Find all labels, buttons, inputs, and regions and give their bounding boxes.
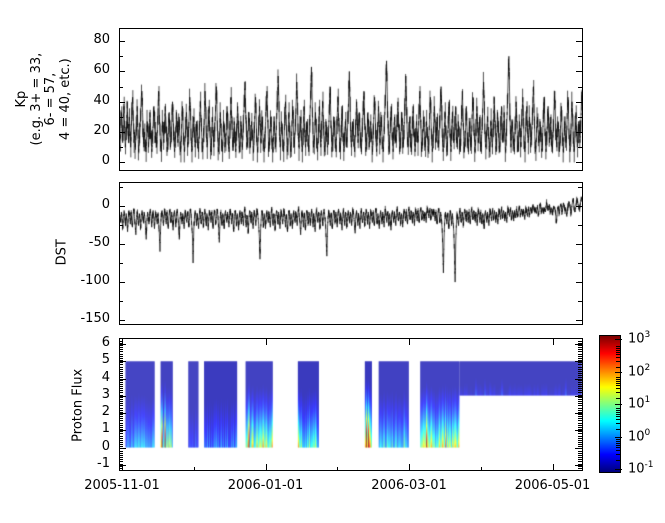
flux-minor-tick-right: [578, 414, 582, 415]
flux-minor-tick: [119, 403, 123, 404]
colorbar-tick-1: 101: [628, 395, 650, 411]
flux-minor-tick: [119, 425, 123, 426]
xtick-minor-mark: [553, 467, 554, 471]
dst-ytick-mark-right--150: [576, 320, 582, 321]
flux-minor-tick-right: [578, 468, 582, 469]
dst-minor-tick-right--75: [578, 263, 582, 264]
colorbar-minor-tick: [616, 388, 620, 389]
flux-minor-tick: [119, 436, 123, 437]
flux-minor-tick-right: [578, 418, 582, 419]
flux-minor-tick-right: [578, 356, 582, 357]
dst-ytick-mark--50: [119, 244, 125, 245]
flux-minor-tick-right: [578, 341, 582, 342]
kp-ytick-mark-60: [119, 71, 125, 72]
kp-panel: [119, 28, 583, 171]
colorbar-tick-exponent: 0: [645, 428, 651, 438]
colorbar-minor-tick: [616, 408, 620, 409]
kp-ytick-80: 80: [72, 32, 110, 47]
dst-ytick-mark--150: [119, 320, 125, 321]
flux-minor-tick: [119, 382, 123, 383]
kp-ytick-mark-right-60: [576, 71, 582, 72]
flux-minor-tick: [119, 433, 123, 434]
colorbar-tick-2: 102: [628, 363, 650, 379]
flux-minor-tick-right: [578, 470, 582, 471]
flux-minor-tick: [119, 367, 123, 368]
flux-minor-tick: [119, 384, 123, 385]
flux-minor-tick: [119, 429, 123, 430]
flux-minor-tick: [119, 423, 123, 424]
colorbar-minor-tick: [616, 385, 620, 386]
kp-axis-label-line-4: 4 = 40, etc.): [59, 19, 74, 179]
flux-minor-tick-right: [578, 440, 582, 441]
flux-minor-tick: [119, 360, 123, 361]
flux-minor-tick: [119, 380, 123, 381]
xtick-2006-01-01: 2006-01-01: [211, 478, 321, 493]
kp-ytick-mark-40: [119, 102, 125, 103]
flux-minor-tick: [119, 377, 123, 378]
flux-minor-tick-right: [578, 399, 582, 400]
flux-minor-tick: [119, 408, 123, 409]
colorbar-minor-tick: [616, 398, 620, 399]
dst-ytick--100: -100: [58, 273, 110, 288]
dst-ytick--50: -50: [58, 235, 110, 250]
kp-ytick-mark-80: [119, 41, 125, 42]
colorbar-tick-exponent: -1: [645, 460, 654, 470]
flux-minor-tick: [119, 397, 123, 398]
colorbar-minor-tick: [616, 352, 620, 353]
kp-minor-tick-50: [119, 87, 123, 88]
kp-axis-label: Kp (e.g. 3+ = 33, 6- = 57, 4 = 40, etc.): [15, 19, 73, 179]
flux-minor-tick-right: [578, 358, 582, 359]
flux-minor-tick-right: [578, 360, 582, 361]
flux-minor-tick-right: [578, 455, 582, 456]
colorbar-tick--1: 10-1: [628, 460, 654, 476]
kp-ytick-mark-20: [119, 132, 125, 133]
kp-minor-tick-30: [119, 117, 123, 118]
flux-minor-tick-right: [578, 403, 582, 404]
flux-minor-tick-right: [578, 457, 582, 458]
flux-minor-tick-right: [578, 423, 582, 424]
dst-minor-tick-right-25: [578, 187, 582, 188]
figure-root: Kp (e.g. 3+ = 33, 6- = 57, 4 = 40, etc.)…: [0, 0, 665, 523]
flux-minor-tick-right: [578, 343, 582, 344]
flux-minor-tick-right: [578, 425, 582, 426]
flux-minor-tick-right: [578, 351, 582, 352]
flux-minor-tick-right: [578, 384, 582, 385]
flux-minor-tick: [119, 373, 123, 374]
proton-flux-spectrogram: [120, 339, 582, 470]
flux-minor-tick-right: [578, 388, 582, 389]
colorbar-minor-tick: [616, 367, 620, 368]
flux-minor-tick: [119, 427, 123, 428]
flux-minor-tick-right: [578, 429, 582, 430]
flux-minor-tick: [119, 354, 123, 355]
flux-minor-tick-right: [578, 345, 582, 346]
colorbar-minor-tick: [616, 392, 620, 393]
kp-minor-tick-70: [119, 56, 123, 57]
flux-minor-tick-right: [578, 364, 582, 365]
kp-ytick-0: 0: [72, 153, 110, 168]
flux-minor-tick-right: [578, 448, 582, 449]
flux-ytick-2: 2: [72, 404, 110, 419]
flux-ytick-0: 0: [72, 439, 110, 454]
dst-minor-tick--25: [119, 225, 123, 226]
flux-minor-tick: [119, 399, 123, 400]
colorbar-tick-mark-2: [615, 372, 622, 373]
flux-minor-tick-right: [578, 397, 582, 398]
dst-ytick-mark--100: [119, 282, 125, 283]
flux-minor-tick-right: [578, 438, 582, 439]
kp-minor-tick-right-10: [578, 147, 582, 148]
flux-minor-tick-right: [578, 431, 582, 432]
flux-ytick-6: 6: [72, 335, 110, 350]
flux-minor-tick-right: [578, 401, 582, 402]
flux-minor-tick: [119, 448, 123, 449]
flux-minor-tick: [119, 390, 123, 391]
flux-minor-tick: [119, 405, 123, 406]
flux-minor-tick: [119, 345, 123, 346]
colorbar-minor-tick: [616, 350, 620, 351]
colorbar-minor-tick: [616, 419, 620, 420]
flux-minor-tick-right: [578, 405, 582, 406]
kp-ytick-mark-right-80: [576, 41, 582, 42]
dst-ytick-mark-right--100: [576, 282, 582, 283]
flux-minor-tick: [119, 410, 123, 411]
colorbar-tick-mantissa: 10: [628, 397, 645, 412]
kp-minor-tick-right-70: [578, 56, 582, 57]
kp-ytick-60: 60: [72, 62, 110, 77]
colorbar-tick-mark-3: [615, 339, 622, 340]
colorbar-minor-tick: [616, 454, 620, 455]
flux-ytick-1: 1: [72, 421, 110, 436]
flux-minor-tick: [119, 364, 123, 365]
colorbar-minor-tick: [616, 429, 620, 430]
colorbar-tick-mark-1: [615, 404, 622, 405]
colorbar-tick-exponent: 3: [645, 330, 651, 340]
flux-minor-tick-right: [578, 369, 582, 370]
flux-minor-tick-right: [578, 416, 582, 417]
flux-minor-tick-right: [578, 382, 582, 383]
flux-minor-tick: [119, 358, 123, 359]
flux-minor-tick: [119, 457, 123, 458]
dst-minor-tick-25: [119, 187, 123, 188]
flux-minor-tick-right: [578, 442, 582, 443]
flux-minor-tick-right: [578, 373, 582, 374]
flux-minor-tick-right: [578, 461, 582, 462]
flux-minor-tick-right: [578, 410, 582, 411]
kp-axis-label-line-2: (e.g. 3+ = 33,: [29, 19, 44, 179]
flux-minor-tick-right: [578, 375, 582, 376]
flux-minor-tick: [119, 349, 123, 350]
flux-minor-tick-right: [578, 386, 582, 387]
flux-minor-tick: [119, 416, 123, 417]
flux-minor-tick: [119, 418, 123, 419]
xtick-mark-top-2006-03-01: [409, 338, 410, 345]
flux-minor-tick-right: [578, 446, 582, 447]
colorbar-minor-tick: [616, 346, 620, 347]
colorbar-tick-mark--1: [615, 469, 622, 470]
flux-minor-tick: [119, 362, 123, 363]
xtick-2006-03-01: 2006-03-01: [354, 478, 464, 493]
colorbar-minor-tick: [616, 361, 620, 362]
kp-ytick-mark-right-0: [576, 162, 582, 163]
flux-minor-tick-right: [578, 466, 582, 467]
flux-minor-tick: [119, 444, 123, 445]
colorbar-tick-mantissa: 10: [628, 429, 645, 444]
flux-minor-tick: [119, 392, 123, 393]
xtick-2005-11-01: 2005-11-01: [67, 478, 177, 493]
flux-minor-tick-right: [578, 451, 582, 452]
colorbar-minor-tick: [616, 416, 620, 417]
flux-ytick-5: 5: [72, 352, 110, 367]
flux-minor-tick-right: [578, 412, 582, 413]
flux-minor-tick: [119, 451, 123, 452]
colorbar-tick-0: 100: [628, 428, 650, 444]
flux-minor-tick-right: [578, 459, 582, 460]
xtick-minor-mark: [266, 467, 267, 471]
colorbar-tick-exponent: 2: [645, 363, 651, 373]
flux-minor-tick-right: [578, 444, 582, 445]
flux-minor-tick-right: [578, 433, 582, 434]
flux-minor-tick: [119, 461, 123, 462]
kp-ytick-20: 20: [72, 123, 110, 138]
colorbar-minor-tick: [616, 423, 620, 424]
dst-ytick-mark-right--50: [576, 244, 582, 245]
flux-minor-tick: [119, 442, 123, 443]
kp-minor-tick-right-30: [578, 117, 582, 118]
flux-minor-tick: [119, 420, 123, 421]
flux-minor-tick-right: [578, 436, 582, 437]
xtick-2006-05-01: 2006-05-01: [498, 478, 608, 493]
colorbar-minor-tick: [616, 383, 620, 384]
colorbar-tick-mantissa: 10: [628, 331, 645, 346]
colorbar-minor-tick: [616, 381, 620, 382]
colorbar-minor-tick: [616, 414, 620, 415]
colorbar-tick-mantissa: 10: [628, 364, 645, 379]
colorbar-minor-tick: [616, 357, 620, 358]
kp-axis-label-line-3: 6- = 57,: [44, 19, 59, 179]
flux-ytick-3: 3: [72, 387, 110, 402]
flux-minor-tick-right: [578, 354, 582, 355]
flux-minor-tick: [119, 351, 123, 352]
flux-minor-tick: [119, 356, 123, 357]
dst-ytick-mark-right-0: [576, 206, 582, 207]
xtick-minor-mark: [194, 467, 195, 471]
kp-ytick-40: 40: [72, 93, 110, 108]
xtick-mark-top-2006-01-01: [266, 338, 267, 345]
colorbar-minor-tick: [616, 447, 620, 448]
kp-ytick-mark-right-20: [576, 132, 582, 133]
dst-panel: [119, 182, 583, 325]
flux-minor-tick: [119, 369, 123, 370]
colorbar-minor-tick: [616, 460, 620, 461]
colorbar-tick-exponent: 1: [645, 395, 651, 405]
dst-ytick--150: -150: [58, 311, 110, 326]
flux-minor-tick: [119, 455, 123, 456]
proton-flux-panel: [119, 338, 583, 471]
kp-line-plot: [120, 29, 582, 170]
colorbar-minor-tick: [616, 348, 620, 349]
flux-minor-tick: [119, 459, 123, 460]
flux-minor-tick: [119, 453, 123, 454]
flux-minor-tick-right: [578, 453, 582, 454]
flux-minor-tick: [119, 438, 123, 439]
dst-minor-tick--75: [119, 263, 123, 264]
colorbar-minor-tick: [616, 443, 620, 444]
colorbar-minor-tick: [616, 379, 620, 380]
kp-axis-label-line-1: Kp: [15, 19, 30, 179]
flux-minor-tick: [119, 440, 123, 441]
flux-minor-tick: [119, 401, 123, 402]
colorbar-minor-tick: [616, 354, 620, 355]
flux-minor-tick-right: [578, 349, 582, 350]
dst-minor-tick-right--125: [578, 301, 582, 302]
flux-minor-tick-right: [578, 362, 582, 363]
kp-ytick-mark-0: [119, 162, 125, 163]
flux-minor-tick: [119, 388, 123, 389]
flux-minor-tick-right: [578, 427, 582, 428]
dst-minor-tick-right--25: [578, 225, 582, 226]
flux-minor-tick: [119, 412, 123, 413]
dst-ytick-mark-0: [119, 206, 125, 207]
flux-minor-tick: [119, 446, 123, 447]
colorbar-minor-tick: [616, 410, 620, 411]
xtick-minor-mark: [409, 467, 410, 471]
flux-minor-tick: [119, 386, 123, 387]
xtick-minor-mark: [122, 467, 123, 471]
xtick-minor-mark: [337, 467, 338, 471]
colorbar-minor-tick: [616, 450, 620, 451]
flux-minor-tick: [119, 371, 123, 372]
flux-minor-tick-right: [578, 377, 582, 378]
flux-minor-tick: [119, 414, 123, 415]
xtick-minor-mark: [481, 467, 482, 471]
colorbar-tick-mark-0: [615, 437, 622, 438]
dst-ytick-0: 0: [58, 197, 110, 212]
colorbar-minor-tick: [616, 439, 620, 440]
flux-minor-tick-right: [578, 392, 582, 393]
colorbar-minor-tick: [616, 445, 620, 446]
colorbar-minor-tick: [616, 441, 620, 442]
kp-ytick-mark-right-40: [576, 102, 582, 103]
flux-minor-tick-right: [578, 347, 582, 348]
flux-minor-tick-right: [578, 390, 582, 391]
flux-minor-tick-right: [578, 420, 582, 421]
flux-ytick-4: 4: [72, 370, 110, 385]
flux-minor-tick-right: [578, 464, 582, 465]
flux-ytick--1: -1: [72, 456, 110, 471]
dst-minor-tick--125: [119, 301, 123, 302]
colorbar-minor-tick: [616, 412, 620, 413]
flux-minor-tick-right: [578, 408, 582, 409]
xtick-mark-top-2006-05-01: [553, 338, 554, 345]
dst-line-plot: [120, 183, 582, 324]
colorbar-minor-tick: [616, 377, 620, 378]
flux-minor-tick: [119, 431, 123, 432]
xtick-mark-top-2005-11-01: [122, 338, 123, 345]
flux-minor-tick: [119, 395, 123, 396]
kp-minor-tick-10: [119, 147, 123, 148]
colorbar-tick-mantissa: 10: [628, 462, 645, 477]
flux-minor-tick: [119, 347, 123, 348]
flux-minor-tick-right: [578, 395, 582, 396]
flux-minor-tick-right: [578, 367, 582, 368]
kp-minor-tick-right-50: [578, 87, 582, 88]
colorbar-tick-3: 103: [628, 330, 650, 346]
flux-minor-tick: [119, 375, 123, 376]
flux-minor-tick-right: [578, 380, 582, 381]
flux-minor-tick-right: [578, 371, 582, 372]
